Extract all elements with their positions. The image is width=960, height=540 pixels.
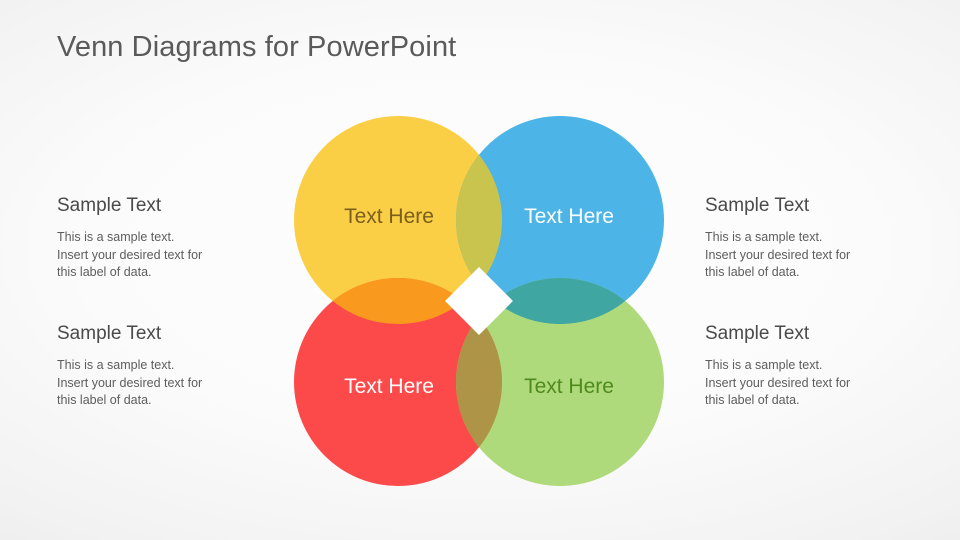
- text-block-bottom-right-body: This is a sample text. Insert your desir…: [705, 357, 920, 410]
- text-block-bottom-left-heading: Sample Text: [57, 323, 272, 345]
- text-block-bottom-left-body: This is a sample text. Insert your desir…: [57, 357, 272, 410]
- text-block-top-right: Sample Text This is a sample text. Inser…: [705, 195, 920, 282]
- text-block-top-right-body: This is a sample text. Insert your desir…: [705, 229, 920, 282]
- text-block-bottom-left: Sample Text This is a sample text. Inser…: [57, 323, 272, 410]
- venn-diagram: Text Here Text Here Text Here Text Here: [288, 110, 670, 492]
- page-title: Venn Diagrams for PowerPoint: [57, 31, 456, 64]
- venn-svg: [288, 110, 670, 492]
- text-block-top-left: Sample Text This is a sample text. Inser…: [57, 195, 272, 282]
- text-block-bottom-right-heading: Sample Text: [705, 323, 920, 345]
- text-block-top-right-heading: Sample Text: [705, 195, 920, 217]
- text-block-bottom-right: Sample Text This is a sample text. Inser…: [705, 323, 920, 410]
- slide-canvas: Venn Diagrams for PowerPoint: [0, 0, 960, 540]
- text-block-top-left-body: This is a sample text. Insert your desir…: [57, 229, 272, 282]
- text-block-top-left-heading: Sample Text: [57, 195, 272, 217]
